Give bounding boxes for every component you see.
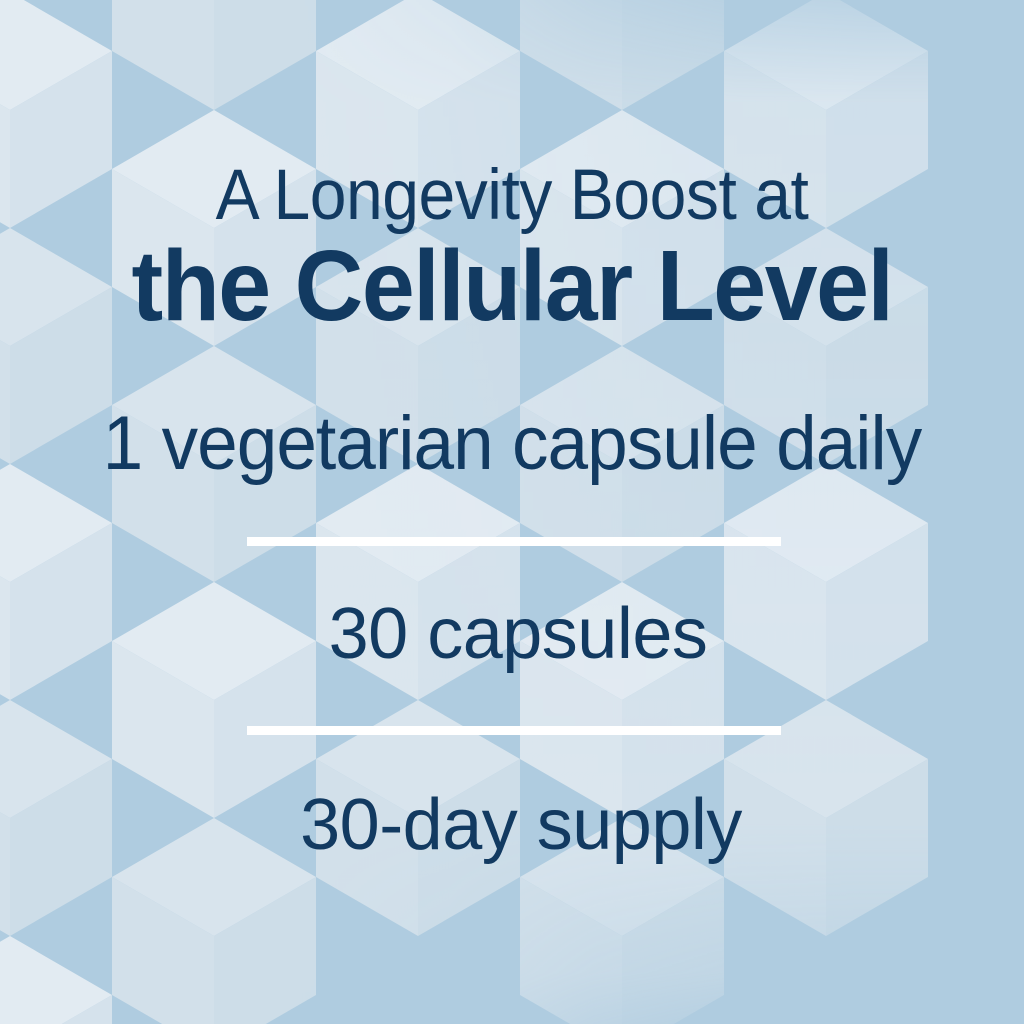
- card-content: A Longevity Boost at the Cellular Level …: [0, 0, 1024, 1024]
- dosage-subheadline: 1 vegetarian capsule daily: [20, 406, 1003, 482]
- product-info-card: A Longevity Boost at the Cellular Level …: [0, 0, 1024, 1024]
- spec-capsule-count: 30 capsules: [6, 598, 1024, 670]
- divider-bottom: [247, 726, 781, 735]
- headline-line-2: the Cellular Level: [26, 236, 999, 336]
- spec-supply-duration: 30-day supply: [9, 789, 1024, 861]
- headline-line-1: A Longevity Boost at: [36, 160, 988, 231]
- divider-top: [247, 537, 781, 546]
